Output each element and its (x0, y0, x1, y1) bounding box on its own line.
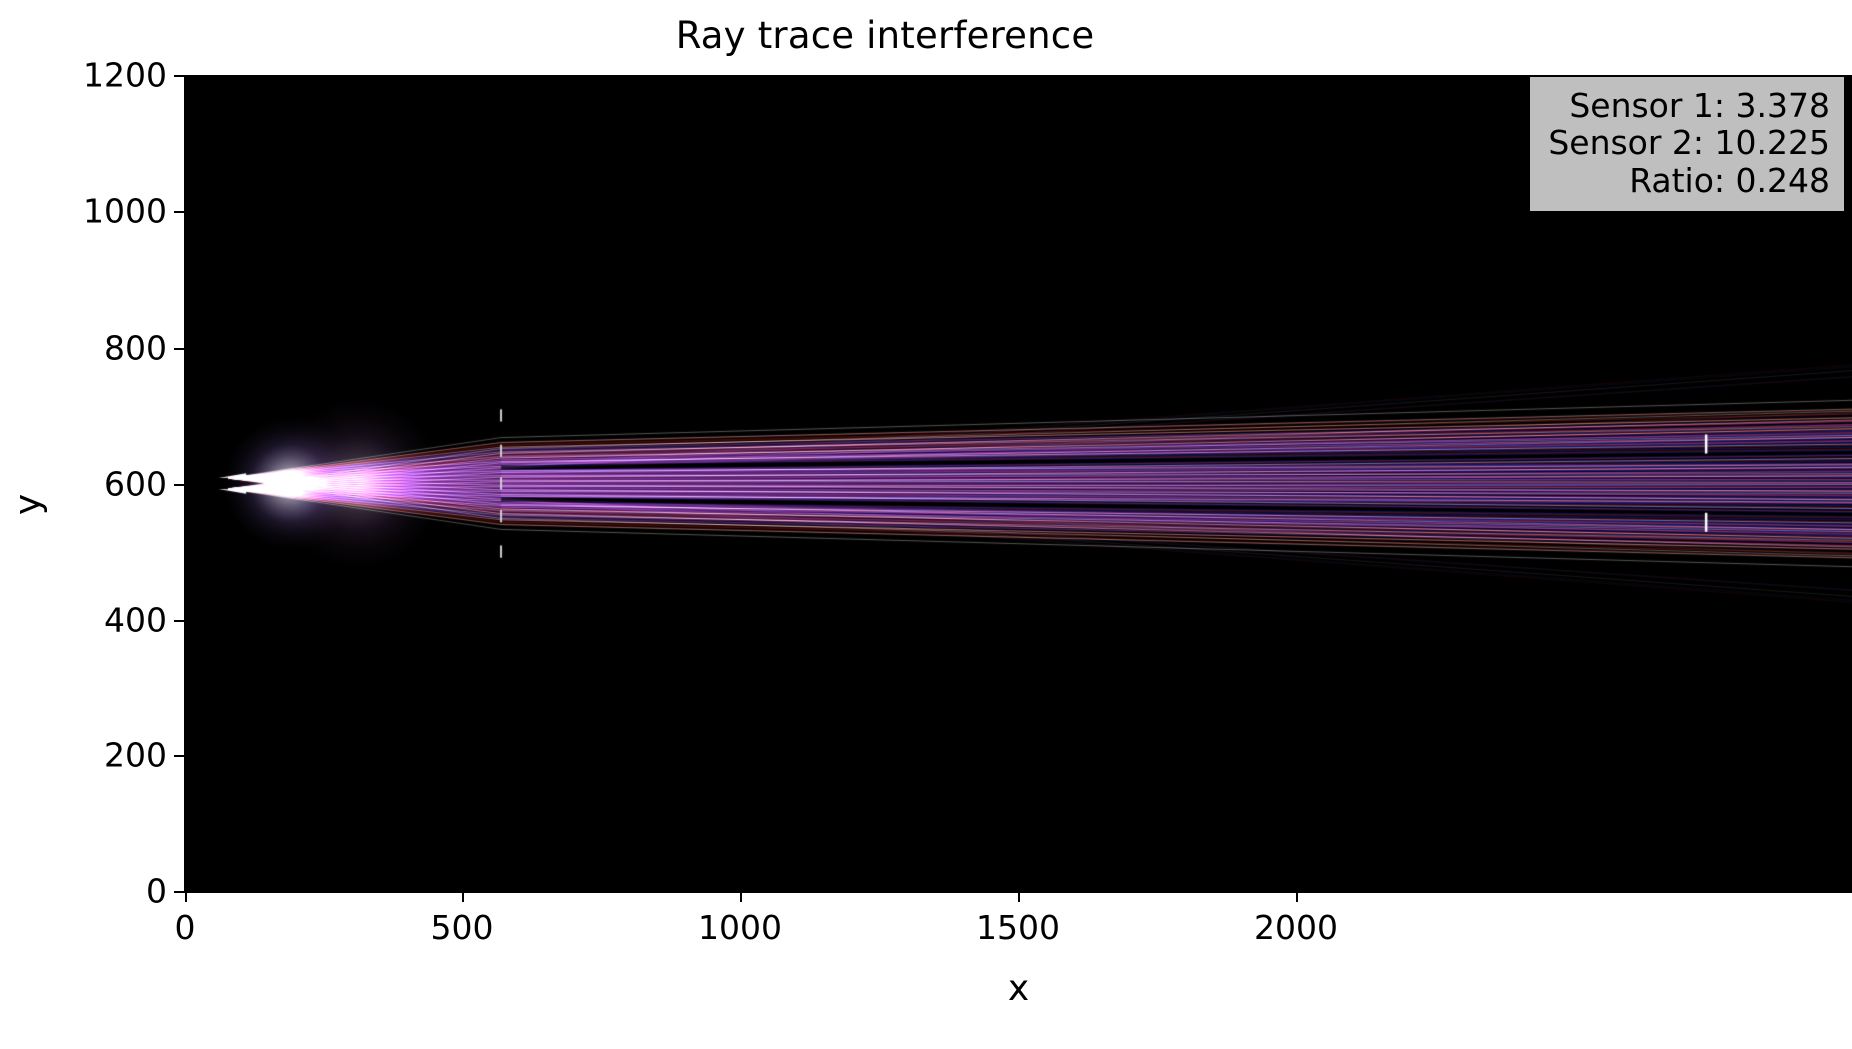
ytick-label-800: 800 (104, 329, 167, 368)
ytick-label-0: 0 (146, 872, 167, 911)
xtick-label-2000: 2000 (1254, 908, 1338, 947)
ratio-reading: Ratio: 0.248 (1548, 162, 1830, 199)
ytick-label-1000: 1000 (83, 192, 167, 231)
sensor-readout-box: Sensor 1: 3.378 Sensor 2: 10.225 Ratio: … (1530, 77, 1844, 211)
x-axis-label: x (185, 968, 1852, 1009)
chart-title: Ray trace interference (0, 14, 1770, 57)
ytick-label-400: 400 (104, 601, 167, 640)
ytick-label-600: 600 (104, 465, 167, 504)
xtick-label-500: 500 (431, 908, 494, 947)
y-axis-label: y (8, 475, 49, 535)
sensor-1-reading: Sensor 1: 3.378 (1548, 87, 1830, 124)
ytick-label-200: 200 (104, 736, 167, 775)
xtick-label-1500: 1500 (976, 908, 1060, 947)
sensor-2-reading: Sensor 2: 10.225 (1548, 124, 1830, 161)
figure-canvas: Ray trace interference 0 200 400 600 800… (0, 0, 1852, 1049)
y-axis-spine (184, 75, 186, 893)
x-axis-spine (185, 891, 1852, 893)
xtick-label-0: 0 (175, 908, 196, 947)
xtick-label-1000: 1000 (698, 908, 782, 947)
ytick-label-1200: 1200 (83, 56, 167, 95)
